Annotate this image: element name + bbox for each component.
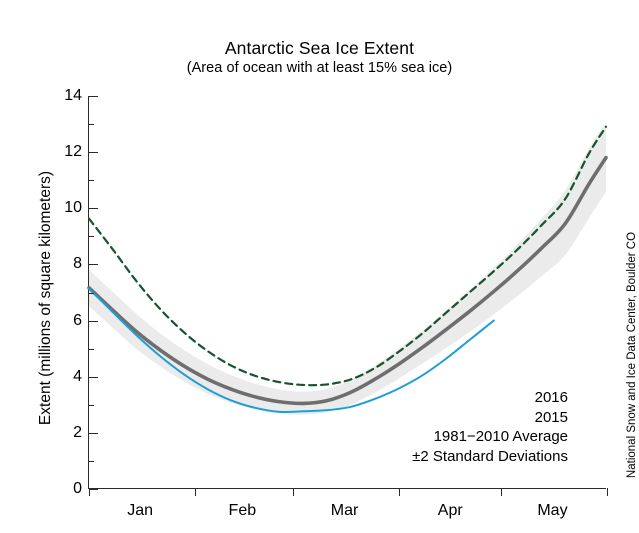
x-axis-tick-label: Mar <box>331 502 359 520</box>
y-axis-tick-minor <box>89 293 94 294</box>
x-axis-tick-label: Feb <box>229 502 257 520</box>
y-axis-tick-label: 12 <box>64 143 82 161</box>
y-axis-tick-label: 4 <box>73 368 82 386</box>
y-axis-tick-major <box>89 96 98 97</box>
y-axis-tick-major <box>89 208 98 209</box>
legend-item-2016: 2016 <box>352 388 602 408</box>
y-axis-tick-major <box>89 321 98 322</box>
legend-swatch-2015-dashed-line-icon <box>575 410 602 424</box>
legend-label-2015: 2015 <box>535 408 568 428</box>
y-axis-tick-label: 14 <box>64 87 82 105</box>
x-axis-tick <box>501 488 502 496</box>
y-axis-tick-label: 10 <box>64 199 82 217</box>
y-axis-tick-minor <box>89 236 94 237</box>
x-axis-tick-label: Jan <box>127 502 153 520</box>
data-source-credit: National Snow and Ice Data Center, Bould… <box>626 220 638 490</box>
title-block: Antarctic Sea Ice Extent (Area of ocean … <box>0 38 639 77</box>
y-axis-tick-minor <box>89 461 94 462</box>
legend-swatch-2016-line-icon <box>575 391 602 405</box>
x-axis-tick <box>293 488 294 496</box>
y-axis-tick-label: 2 <box>73 424 82 442</box>
x-axis-tick <box>607 488 608 496</box>
y-axis-tick-major <box>89 489 98 490</box>
x-axis-tick <box>399 488 400 496</box>
y-axis-tick-label: 0 <box>73 480 82 498</box>
y-axis-tick-major <box>89 433 98 434</box>
legend-label-average: 1981−2010 Average <box>434 427 568 447</box>
x-axis-tick <box>89 488 90 496</box>
y-axis-label: Extent (millions of square kilometers) <box>37 148 55 448</box>
chart-legend: 2016 2015 1981−2010 Average ±2 Standard … <box>352 388 602 466</box>
std-deviation-band <box>89 123 606 415</box>
y-axis-tick-minor <box>89 349 94 350</box>
legend-item-2015: 2015 <box>352 408 602 428</box>
legend-item-average: 1981−2010 Average <box>352 427 602 447</box>
x-axis-tick-label: May <box>537 502 567 520</box>
legend-label-std-dev: ±2 Standard Deviations <box>412 447 568 467</box>
y-axis-tick-label: 6 <box>73 312 82 330</box>
legend-swatch-std-dev-band-icon <box>575 449 595 464</box>
legend-swatch-average-line-icon <box>575 430 602 444</box>
y-axis-tick-minor <box>89 405 94 406</box>
y-axis-tick-major <box>89 377 98 378</box>
y-axis-tick-label: 8 <box>73 255 82 273</box>
chart-subtitle: (Area of ocean with at least 15% sea ice… <box>0 59 639 77</box>
legend-label-2016: 2016 <box>535 388 568 408</box>
legend-item-std-dev: ±2 Standard Deviations <box>352 447 602 467</box>
x-axis-tick-label: Apr <box>438 502 463 520</box>
y-axis-tick-major <box>89 264 98 265</box>
y-axis-tick-minor <box>89 180 94 181</box>
chart-title: Antarctic Sea Ice Extent <box>0 38 639 59</box>
antarctic-sea-ice-extent-figure: Antarctic Sea Ice Extent (Area of ocean … <box>0 0 639 533</box>
y-axis-tick-major <box>89 152 98 153</box>
x-axis-tick <box>195 488 196 496</box>
y-axis-tick-minor <box>89 124 94 125</box>
